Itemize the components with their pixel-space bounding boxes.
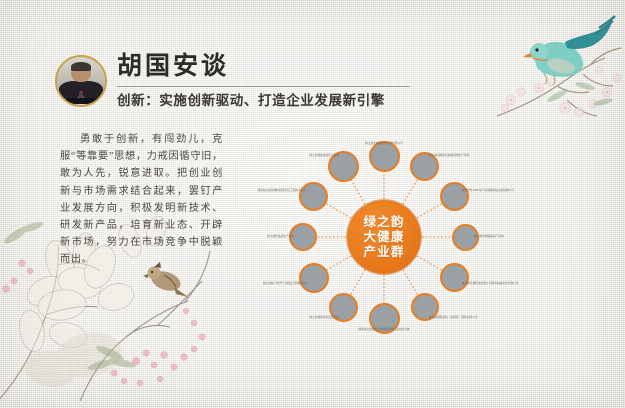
diagram-node-caption: 绿康金丝GMP生产基地湖南绿之韵生物公司 (462, 189, 536, 192)
diagram-node-caption: 绿之韵生物制品生产基地 (474, 235, 548, 238)
diagram-node-9[interactable]: 绿之韵林下经济产业园灵芝种植基地 (299, 263, 329, 293)
diagram-node-caption: 绿之韵林下经济产业园灵芝种植基地 (232, 282, 306, 285)
diagram-node-caption: 绿之韵生物科技有限公司湖南绿康药业有限公司 (462, 282, 536, 285)
magazine-spread: 胡国安谈 创新：实施创新驱动、打造企业发展新引擎 勇敢于创新，有闯劲儿，克服“等… (0, 0, 625, 408)
diagram-node-caption: 湖南绿之韵国际大健康管理中心商业综合体 (347, 328, 421, 331)
diagram-node-1[interactable]: 绿之韵生物医药产业园有限公司 (369, 141, 400, 172)
office-building-photo[interactable] (440, 182, 469, 211)
diagram-node-caption: 绿之韵健康养生会所连锁 (265, 316, 339, 319)
spoke-line (417, 256, 442, 270)
spoke-line (403, 179, 417, 204)
article-body-text: 勇敢于创新，有闯劲儿，克服“等靠要”思想，力戒因循守旧，敢为人先，锐意进取。把创… (60, 131, 223, 269)
avatar (55, 55, 107, 107)
diagram-node-caption: 绿之韵国际贸易（香港富）国际有限公司 (429, 316, 503, 319)
diagram-node-5[interactable]: 绿之韵生物科技有限公司湖南绿康药业有限公司 (440, 263, 469, 292)
center-line-1: 绿之韵 (363, 215, 404, 230)
center-line-2: 大健康 (363, 230, 404, 245)
diagram-node-6[interactable]: 绿之韵国际贸易（香港富）国际有限公司 (411, 293, 439, 321)
spoke-line (351, 180, 365, 204)
diagram-node-10[interactable]: 绿之韵化妆品生产基地 (289, 223, 317, 251)
diagram-node-12[interactable]: 绿之韵保健食品生产基地 (328, 151, 359, 182)
page-title: 胡国安谈 (117, 52, 229, 82)
herb-drying-photo[interactable] (299, 263, 329, 293)
diagram-node-caption: 湖南绿之韵生物科技研究院工程技术中心 (232, 189, 306, 192)
title-divider (117, 86, 410, 87)
spoke-line (351, 270, 365, 295)
diagram-node-caption: 绿之韵道地药材种植基地生产基地 (429, 154, 503, 157)
spoke-line (327, 256, 351, 270)
diagram-node-7[interactable]: 湖南绿之韵国际大健康管理中心商业综合体 (369, 303, 400, 334)
spoke-line (326, 204, 351, 218)
retail-store-photo[interactable] (440, 263, 469, 292)
article-subtitle: 创新：实施创新驱动、打造企业发展新引擎 (117, 91, 385, 111)
laboratory-photo[interactable] (299, 182, 328, 211)
diagram-node-caption: 绿之韵化妆品生产基地 (220, 235, 294, 238)
center-line-3: 产业群 (363, 245, 404, 260)
diagram-node-4[interactable]: 绿之韵生物制品生产基地 (452, 224, 479, 251)
diagram-node-3[interactable]: 绿康金丝GMP生产基地湖南绿之韵生物公司 (440, 182, 469, 211)
diagram-node-caption: 绿之韵生物医药产业园有限公司 (347, 142, 421, 145)
article-header: 胡国安谈 创新：实施创新驱动、打造企业发展新引擎 (55, 52, 415, 114)
diagram-node-11[interactable]: 湖南绿之韵生物科技研究院工程技术中心 (299, 182, 328, 211)
diagram-node-caption: 绿之韵保健食品生产基地 (265, 154, 339, 157)
diagram-node-8[interactable]: 绿之韵健康养生会所连锁 (329, 293, 358, 322)
diagram-node-2[interactable]: 绿之韵道地药材种植基地生产基地 (410, 152, 439, 181)
spoke-line (403, 270, 418, 295)
spoke-line (417, 204, 442, 218)
bird-figure (523, 16, 615, 85)
industry-cluster-diagram: 绿之韵 大健康 产业群 绿之韵生物医药产业园有限公司绿之韵道地药材种植基地生产基… (255, 118, 555, 368)
diagram-center-label: 绿之韵 大健康 产业群 (347, 200, 421, 274)
